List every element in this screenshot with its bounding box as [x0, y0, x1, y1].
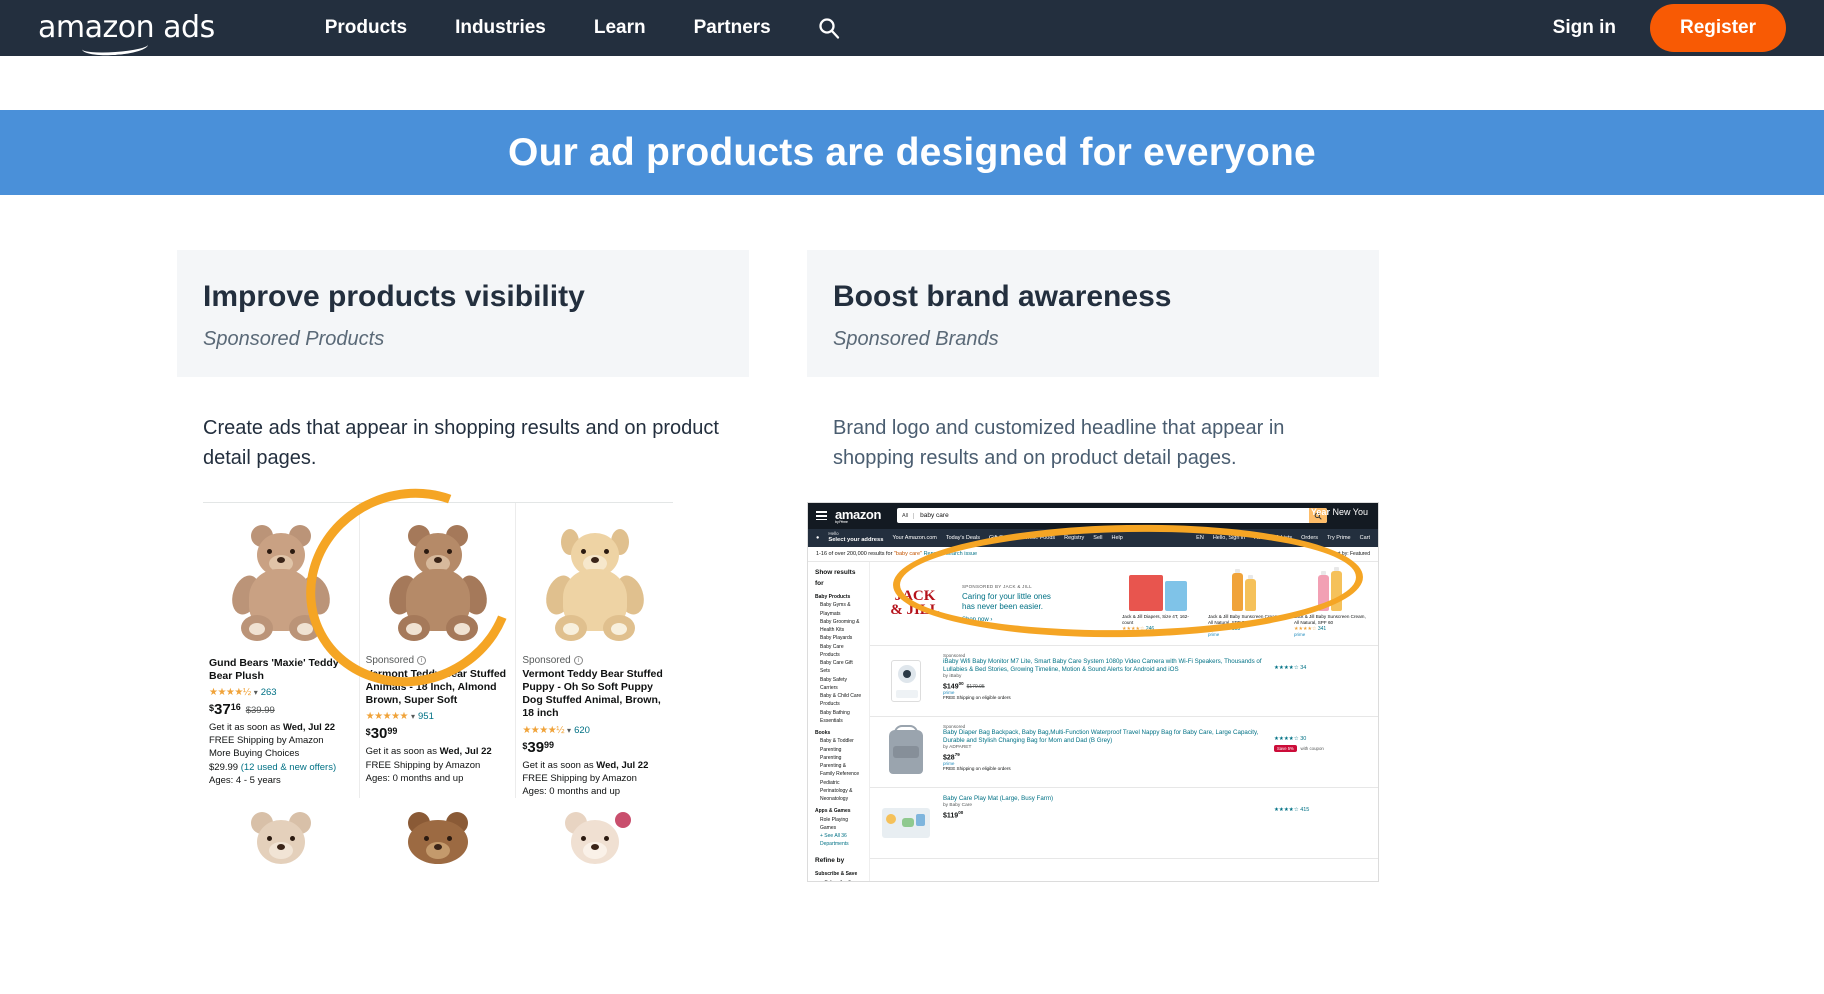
delivery-prefix: Get it as soon as [522, 760, 596, 771]
subnav-link[interactable]: Gift Cards [989, 535, 1014, 541]
price-whole: 149 [947, 683, 959, 690]
sidebar-item[interactable]: Baby Bathing Essentials [815, 709, 862, 726]
sidebar-item[interactable]: Baby & Toddler Parenting [815, 737, 862, 754]
result-price: $11900 [943, 810, 1265, 819]
star-rating-icon: ★★★★★ [366, 711, 408, 722]
refine-label: Subscribe & Save Eligible [824, 879, 862, 882]
sidebar-item[interactable]: Parenting [815, 754, 862, 762]
search-result-row[interactable]: Baby Care Play Mat (Large, Busy Farm) by… [870, 788, 1378, 859]
coupon-area: Save 5% with coupon [1274, 742, 1370, 752]
ages-line: Ages: 4 - 5 years [209, 774, 353, 787]
account-lists-link[interactable]: Account & Lists [1254, 535, 1292, 541]
product-title[interactable]: Vermont Teddy Bear Stuffed Animals - 18 … [366, 668, 510, 708]
result-title[interactable]: Baby Care Play Mat (Large, Busy Farm) [943, 795, 1265, 803]
product-card[interactable]: Gund Bears 'Maxie' Teddy Bear Plush ★★★★… [203, 503, 360, 798]
ad-product-image [1122, 569, 1194, 611]
nav-item-industries[interactable]: Industries [455, 17, 546, 39]
product-price: $3099 [366, 725, 510, 742]
product-card[interactable]: Sponsored i Vermont Teddy Bear Stuffed A… [360, 503, 517, 798]
result-price: $2879 [943, 752, 1265, 761]
product-results-grid-row2 [203, 804, 673, 874]
search-scope-select[interactable]: All [897, 513, 914, 519]
search-input[interactable]: baby care [914, 512, 949, 519]
nav-item-learn[interactable]: Learn [594, 17, 646, 39]
result-brand[interactable]: by iBaby [943, 674, 1265, 679]
brand-logo-line2: & JILL [878, 603, 952, 617]
star-rating-icon: ★★★★☆ [1274, 736, 1299, 742]
ad-product-rating-count[interactable]: 341 [1318, 626, 1326, 632]
result-rating[interactable]: ★★★★☆ 34 [1274, 665, 1370, 671]
product-card[interactable] [516, 804, 673, 874]
brand-logo-line1: JACK [878, 589, 952, 603]
delivery-date: Wed, Jul 22 [596, 760, 648, 771]
column-sponsored-brands: Boost brand awareness Sponsored Brands B… [807, 250, 1379, 882]
ad-copy: SPONSORED BY JACK & JILL Caring for your… [962, 584, 1112, 623]
result-body: Baby Care Play Mat (Large, Busy Farm) by… [943, 795, 1265, 851]
column-sponsored-products: Improve products visibility Sponsored Pr… [177, 250, 749, 882]
info-icon[interactable]: i [417, 656, 426, 665]
header-spacer [0, 56, 1824, 110]
orders-link[interactable]: Orders [1301, 535, 1318, 541]
subnav-link[interactable]: Today's Deals [946, 535, 980, 541]
subnav-link[interactable]: Help [1111, 535, 1122, 541]
shipping-line: FREE Shipping by Amazon [366, 759, 510, 772]
price-fraction: 99 [387, 726, 397, 736]
rating-count[interactable]: 951 [418, 711, 434, 722]
amazon-header: amazon by Prime All baby care New Y [808, 503, 1378, 529]
ad-product-image [1294, 569, 1366, 611]
result-rating-count[interactable]: 30 [1300, 736, 1306, 742]
sponsored-brands-description: Brand logo and customized headline that … [807, 377, 1379, 474]
star-rating-icon: ★★★★☆ [1274, 807, 1299, 813]
primary-nav-links: Products Industries Learn Partners [325, 17, 771, 39]
hamburger-menu-icon[interactable] [816, 511, 827, 520]
refine-group-title: Subscribe & Save [815, 870, 862, 878]
product-card[interactable] [203, 804, 360, 874]
sponsored-brands-screenshot: amazon by Prime All baby care New Y [807, 502, 1379, 882]
result-body: Sponsored Baby Diaper Bag Backpack, Baby… [943, 724, 1265, 780]
sidebar-item[interactable]: Baby Grooming & Health Kits [815, 618, 862, 635]
amazon-logo[interactable]: amazon by Prime [835, 507, 881, 524]
delivery-date: Wed, Jul 22 [440, 746, 492, 757]
sidebar-group-title[interactable]: Apps & Games [815, 807, 862, 815]
amazon-ads-logo[interactable]: amazon ads [38, 13, 215, 43]
results-count-bar: 1-16 of over 200,000 results for "baby c… [808, 547, 1378, 562]
delivery-line: Get it as soon as Wed, Jul 22 [366, 745, 510, 758]
sign-in-link[interactable]: Sign in [1553, 17, 1616, 39]
used-new-offers-link[interactable]: (12 used & new offers) [241, 762, 336, 773]
shipping-line: FREE Shipping by Amazon [522, 772, 667, 785]
subnav-link[interactable]: Your Amazon.com [892, 535, 936, 541]
price-whole: 39 [527, 739, 544, 756]
refine-checkbox[interactable]: Subscribe & Save Eligible [815, 879, 862, 882]
product-price: $3716$39.99 [209, 701, 353, 718]
star-rating-icon: ★★★★½ [209, 687, 251, 698]
new-year-promo: New Year New You [1290, 507, 1368, 517]
ad-product-tile[interactable]: Jack & Jill Diapers, Size 4T, 162-count … [1122, 569, 1194, 637]
ages-line: Ages: 0 months and up [522, 785, 667, 798]
product-title[interactable]: Gund Bears 'Maxie' Teddy Bear Plush [209, 657, 353, 683]
sidebar-item[interactable]: Baby Care Products [815, 643, 862, 660]
subnav-link[interactable]: Registry [1064, 535, 1084, 541]
ad-headline[interactable]: Caring for your little ones has never be… [962, 592, 1112, 612]
result-brand[interactable]: by ADPARET [943, 745, 1265, 750]
info-icon[interactable]: i [574, 656, 583, 665]
language-selector[interactable]: EN [1196, 535, 1204, 541]
chevron-down-icon: ▾ [567, 726, 571, 735]
result-shipping: FREE Shipping on eligible orders [943, 695, 1265, 700]
coupon-badge: Save 5% [1274, 745, 1297, 752]
price-fraction: 00 [959, 681, 964, 686]
sponsored-brands-header: Boost brand awareness Sponsored Brands [807, 250, 1379, 377]
currency-symbol: $ [366, 727, 371, 737]
account-actions: Sign in Register [1553, 4, 1786, 52]
sidebar-heading: Show results for [815, 568, 862, 589]
search-result-row[interactable]: Sponsored iBaby Wifi Baby Monitor M7 Lit… [870, 646, 1378, 717]
sponsored-brands-ad[interactable]: JACK & JILL SPONSORED BY JACK & JILL Car… [870, 562, 1378, 646]
ad-products-section: Improve products visibility Sponsored Pr… [0, 195, 1824, 882]
sponsored-label: Sponsored i [522, 655, 667, 666]
result-rating[interactable]: ★★★★☆ 415 [1274, 807, 1370, 813]
page-title: Our ad products are designed for everyon… [508, 131, 1316, 175]
price-fraction: 16 [231, 702, 241, 712]
sidebar-item[interactable]: Baby Safety Carriers [815, 676, 862, 693]
refine-by-heading: Refine by [815, 856, 862, 867]
sort-by-value[interactable]: Featured [1350, 551, 1370, 557]
address-hello: Hello [828, 532, 883, 537]
price-strikethrough: $179.95 [967, 684, 985, 690]
product-image [522, 511, 667, 651]
sponsored-text: Sponsored [522, 655, 570, 666]
sponsored-label: Sponsored i [366, 655, 510, 666]
subnav-link[interactable]: Whole Foods [1023, 535, 1055, 541]
more-choices-row: $29.99 (12 used & new offers) [209, 761, 353, 774]
product-image [366, 511, 510, 651]
product-meta: Get it as soon as Wed, Jul 22 FREE Shipp… [522, 759, 667, 798]
star-rating-icon: ★★★★½ [522, 725, 564, 736]
chevron-down-icon: ▾ [254, 688, 258, 697]
product-meta: Get it as soon as Wed, Jul 22 FREE Shipp… [209, 721, 353, 787]
sponsored-products-title: Improve products visibility [203, 280, 723, 314]
ad-product-title[interactable]: Jack & Jill Baby Sunscreen Cream, All Na… [1208, 614, 1280, 626]
result-rating-count[interactable]: 415 [1300, 807, 1309, 813]
amazon-smile-icon [82, 37, 149, 58]
result-shipping: FREE Shipping on eligible orders [943, 766, 1265, 771]
register-button[interactable]: Register [1650, 4, 1786, 52]
product-card[interactable] [360, 804, 517, 874]
prime-badge-icon: prime [1294, 632, 1366, 637]
location-pin-icon[interactable]: ● [816, 535, 819, 541]
account-area: EN Hello, Sign in Account & Lists Orders… [1196, 535, 1370, 541]
price-strikethrough: $39.99 [246, 705, 275, 716]
rating-count[interactable]: 620 [574, 725, 590, 736]
results-column: JACK & JILL SPONSORED BY JACK & JILL Car… [869, 562, 1378, 882]
sponsored-products-screenshot: Gund Bears 'Maxie' Teddy Bear Plush ★★★★… [177, 502, 749, 874]
search-icon[interactable] [817, 16, 841, 40]
delivery-line: Get it as soon as Wed, Jul 22 [522, 759, 667, 772]
currency-symbol: $ [522, 741, 527, 751]
ad-product-rating-count[interactable]: 353 [1232, 626, 1240, 632]
report-search-issue-link[interactable]: Report a search issue [924, 551, 978, 557]
sponsored-text: Sponsored [366, 655, 414, 666]
prime-badge-icon: prime [1208, 632, 1280, 637]
product-image [209, 511, 353, 651]
product-price: $3999 [522, 739, 667, 756]
result-title[interactable]: iBaby Wifi Baby Monitor M7 Lite, Smart B… [943, 658, 1265, 674]
sidebar-item[interactable]: Baby Care Gift Sets [815, 659, 862, 676]
address-label: Select your address [828, 537, 883, 543]
price-whole: 30 [371, 725, 388, 742]
result-body: Sponsored iBaby Wifi Baby Monitor M7 Lit… [943, 653, 1265, 709]
ad-product-tile[interactable]: Jack & Jill Baby Sunscreen Cream, All Na… [1294, 569, 1366, 637]
more-buying-choices: More Buying Choices [209, 747, 353, 760]
amazon-subnav: ● Hello Select your address Your Amazon.… [808, 529, 1378, 547]
delivery-prefix: Get it as soon as [366, 746, 440, 757]
amazon-search-bar[interactable]: All baby care [897, 508, 1327, 523]
shop-now-link[interactable]: Shop now › [962, 617, 1112, 623]
sponsored-brands-title: Boost brand awareness [833, 280, 1353, 314]
product-rating[interactable]: ★★★★½ ▾ 263 [209, 687, 353, 698]
product-results-grid: Gund Bears 'Maxie' Teddy Bear Plush ★★★★… [203, 502, 673, 798]
sponsored-brands-subtitle: Sponsored Brands [833, 328, 1353, 351]
ad-headline-line1: Caring for your little ones [962, 592, 1112, 602]
result-image [878, 653, 934, 709]
sidebar-item[interactable]: Role Playing Games [815, 816, 862, 833]
sidebar-item[interactable]: Parenting & Family Reference [815, 762, 862, 779]
chevron-down-icon: ▾ [411, 712, 415, 721]
product-meta: Get it as soon as Wed, Jul 22 FREE Shipp… [366, 745, 510, 784]
product-card[interactable]: Sponsored i Vermont Teddy Bear Stuffed P… [516, 503, 673, 798]
product-title[interactable]: Vermont Teddy Bear Stuffed Puppy - Oh So… [522, 668, 667, 721]
ad-product-title[interactable]: Jack & Jill Diapers, Size 4T, 162-count [1122, 614, 1194, 626]
sponsored-products-subtitle: Sponsored Products [203, 328, 723, 351]
result-rating-area: ★★★★☆ 30 Save 5% with coupon [1274, 724, 1370, 780]
cart-icon[interactable]: Cart [1360, 535, 1370, 541]
sidebar-group-title[interactable]: Books [815, 729, 862, 737]
results-query-text: "baby care" [894, 551, 922, 557]
price-fraction: 79 [955, 752, 960, 757]
ad-product-image [1208, 569, 1280, 611]
ad-product-rating-count[interactable]: 246 [1146, 626, 1154, 632]
top-navigation-bar: amazon ads Products Industries Learn Par… [0, 0, 1824, 56]
result-rating-count[interactable]: 34 [1300, 665, 1306, 671]
rating-count[interactable]: 263 [261, 687, 277, 698]
sidebar-item[interactable]: Baby Gyms & Playmats [815, 601, 862, 618]
prime-badge-icon: prime [1122, 632, 1194, 637]
more-price: $29.99 [209, 762, 238, 773]
sidebar-group-title[interactable]: Baby Products [815, 593, 862, 601]
ad-product-tiles: Jack & Jill Diapers, Size 4T, 162-count … [1122, 569, 1370, 637]
results-count-text: 1-16 of over 200,000 results for [816, 551, 892, 557]
promo-light-text: New You [1332, 507, 1368, 517]
ad-headline-line2: has never been easier. [962, 602, 1112, 612]
search-result-row[interactable]: Sponsored Baby Diaper Bag Backpack, Baby… [870, 717, 1378, 788]
ages-line: Ages: 0 months and up [366, 772, 510, 785]
currency-symbol: $ [209, 703, 214, 713]
sponsored-by-label: SPONSORED BY JACK & JILL [962, 584, 1112, 589]
price-whole: 119 [947, 812, 958, 819]
result-image [878, 795, 934, 851]
ad-product-title[interactable]: Jack & Jill Baby Sunscreen Cream, All Na… [1294, 614, 1366, 626]
see-all-departments-link[interactable]: + See All 36 Departments [815, 832, 862, 849]
sponsored-products-description: Create ads that appear in shopping resul… [177, 377, 749, 474]
sidebar-item[interactable]: Baby Playards [815, 634, 862, 642]
coupon-note: with coupon [1300, 746, 1323, 751]
brand-logo[interactable]: JACK & JILL [878, 589, 952, 618]
amazon-results-layout: Show results for Baby Products Baby Gyms… [808, 562, 1378, 882]
account-greeting[interactable]: Hello, Sign in [1213, 535, 1245, 541]
shipping-line: FREE Shipping by Amazon [209, 734, 353, 747]
delivery-prefix: Get it as soon as [209, 722, 283, 733]
amazon-search-results-mock: amazon by Prime All baby care New Y [807, 502, 1379, 882]
promo-bold-text: New Year [1290, 507, 1330, 517]
sponsored-products-header: Improve products visibility Sponsored Pr… [177, 250, 749, 377]
delivery-line: Get it as soon as Wed, Jul 22 [209, 721, 353, 734]
price-whole: 28 [947, 754, 955, 761]
result-price: $14900$179.95 [943, 681, 1265, 690]
star-rating-icon: ★★★★☆ [1274, 665, 1299, 671]
delivery-date: Wed, Jul 22 [283, 722, 335, 733]
product-rating[interactable]: ★★★★½ ▾ 620 [522, 725, 667, 736]
price-fraction: 99 [544, 740, 554, 750]
try-prime-link[interactable]: Try Prime [1327, 535, 1351, 541]
result-image [878, 724, 934, 780]
result-brand[interactable]: by Baby Care [943, 803, 1265, 808]
sidebar-item[interactable]: Baby & Child Care Products [815, 692, 862, 709]
page-banner: Our ad products are designed for everyon… [0, 110, 1824, 195]
sidebar-item[interactable]: Pediatric Perinatology & Neonatology [815, 779, 862, 804]
price-fraction: 00 [958, 810, 963, 815]
subnav-link[interactable]: Sell [1093, 535, 1102, 541]
delivery-address[interactable]: Hello Select your address [828, 532, 883, 543]
product-rating[interactable]: ★★★★★ ▾ 951 [366, 711, 510, 722]
result-title[interactable]: Baby Diaper Bag Backpack, Baby Bag,Multi… [943, 729, 1265, 745]
results-sidebar: Show results for Baby Products Baby Gyms… [808, 562, 869, 882]
nav-item-partners[interactable]: Partners [694, 17, 771, 39]
nav-item-products[interactable]: Products [325, 17, 407, 39]
result-rating-area: ★★★★☆ 415 [1274, 795, 1370, 851]
sort-by-label: Sort by: [1331, 551, 1348, 557]
price-whole: 37 [214, 701, 231, 718]
ad-product-tile[interactable]: Jack & Jill Baby Sunscreen Cream, All Na… [1208, 569, 1280, 637]
result-rating-area: ★★★★☆ 34 [1274, 653, 1370, 709]
